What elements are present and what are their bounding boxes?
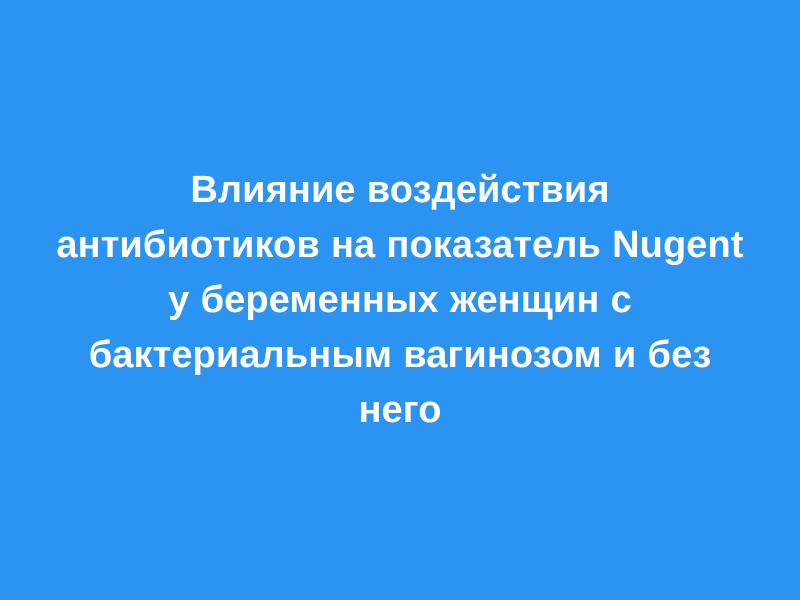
page-title: Влияние воздействия антибиотиков на пока… [56,163,744,438]
title-text-block: Влияние воздействия антибиотиков на пока… [50,163,750,438]
title-card: Влияние воздействия антибиотиков на пока… [0,0,800,600]
